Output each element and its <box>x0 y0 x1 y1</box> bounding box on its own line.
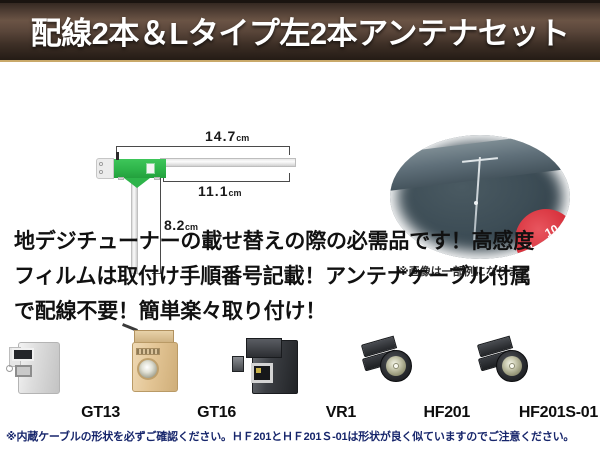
antenna-green-element <box>110 159 166 178</box>
dimension-top-unit: cm <box>236 133 249 143</box>
description-block: 地デジチューナーの載せ替えの際の必需品です！高感度 フィルムは取付け手順番号記載… <box>0 220 600 332</box>
connector-label-gt16: GT16 <box>197 404 236 422</box>
hf201-connector-icon <box>362 338 412 388</box>
connector-label-gt13: GT13 <box>81 404 120 422</box>
description-line-1: 地デジチューナーの載せ替えの際の必需品です！高感度 <box>14 224 586 259</box>
gt16-connector-icon <box>120 334 190 400</box>
antenna-terminal-pad <box>96 158 114 179</box>
connector-gt16: GT16 <box>118 332 236 426</box>
connector-label-hf201s-01: HF201S-01 <box>519 404 598 422</box>
page-title: 配線2本＆Lタイプ左2本アンテナセット <box>31 8 570 53</box>
header-banner: 配線2本＆Lタイプ左2本アンテナセット <box>0 0 600 62</box>
connector-gt13: GT13 <box>2 332 120 426</box>
dimension-top-value: 14.7 <box>205 128 236 144</box>
connector-label-hf201: HF201 <box>423 404 470 422</box>
product-diagram-area: 14.7cm 11.1cm 8.2cm 9 10 ※画像は一部例になります <box>0 62 600 220</box>
dimension-label-top: 14.7cm <box>205 128 249 144</box>
antenna-chip-marker <box>146 163 155 174</box>
antenna-cable-stub <box>116 152 119 160</box>
dimension-bracket-mid <box>163 173 290 182</box>
connector-hf201: HF201 <box>352 332 470 426</box>
antenna-green-taper <box>124 178 150 188</box>
footer-caution-note: ※内蔵ケーブルの形状を必ずご確認ください。ＨＦ201とＨＦ201Ｓ-01は形状が… <box>6 428 598 444</box>
antenna-horizontal-arm <box>160 158 296 167</box>
dimension-mid-value: 11.1 <box>198 183 228 199</box>
antenna-tab <box>154 177 160 180</box>
connector-vr1: VR1 <box>238 332 356 426</box>
description-line-2: フィルムは取付け手順番号記載！アンテナケーブル付属 <box>14 259 586 294</box>
connector-hf201s-01: HF201S-01 <box>468 332 598 426</box>
vr1-connector-icon <box>240 334 310 400</box>
connector-type-row: GT13 GT16 VR1 HF201 <box>0 332 600 426</box>
antenna-terminal-dot <box>99 170 103 174</box>
dimension-label-mid: 11.1cm <box>198 183 242 199</box>
antenna-tab <box>118 177 124 180</box>
description-line-3: で配線不要！簡単楽々取り付け！ <box>14 294 586 329</box>
dimension-bracket-top <box>116 146 290 155</box>
installed-antenna-dot <box>474 201 478 205</box>
antenna-terminal-dot <box>99 162 103 166</box>
hf201s01-connector-icon <box>478 338 528 388</box>
gt13-connector-icon <box>4 334 74 400</box>
dimension-mid-unit: cm <box>228 188 241 198</box>
